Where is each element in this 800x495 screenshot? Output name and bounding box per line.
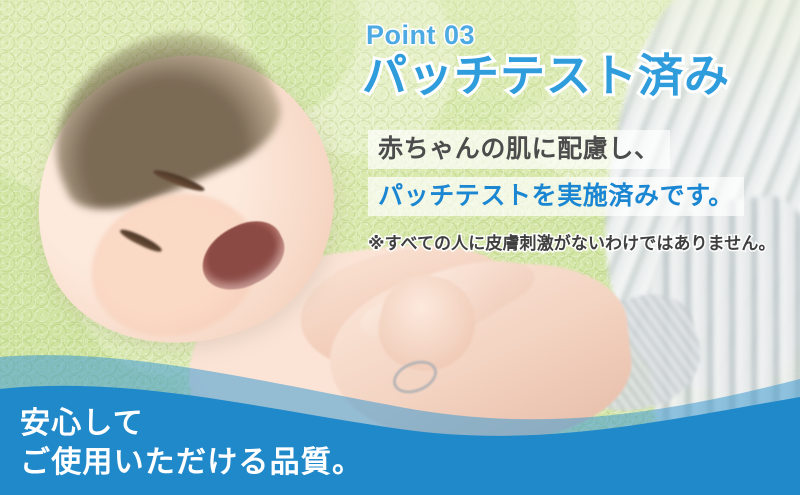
footer-text-block: 安心して ご使用いただける品質。 <box>20 404 450 483</box>
page-title: パッチテスト済み <box>362 52 792 101</box>
point-label: Point 03 <box>366 22 792 49</box>
footer-line-2: ご使用いただける品質。 <box>20 443 450 483</box>
sub-headline-line-2: パッチテストを実施済みです。 <box>368 177 744 216</box>
disclaimer-note: ※すべての人に皮膚刺激がないわけではありません。 <box>368 229 776 254</box>
sub-headline-line-1: 赤ちゃんの肌に配慮し、 <box>368 130 670 169</box>
headline-block: Point 03 パッチテスト済み <box>362 22 792 101</box>
promo-banner: Point 03 パッチテスト済み 赤ちゃんの肌に配慮し、 パッチテストを実施済… <box>0 0 800 495</box>
footer-line-1: 安心して <box>20 404 450 444</box>
sub-headline-block: 赤ちゃんの肌に配慮し、 パッチテストを実施済みです。 <box>368 130 796 216</box>
